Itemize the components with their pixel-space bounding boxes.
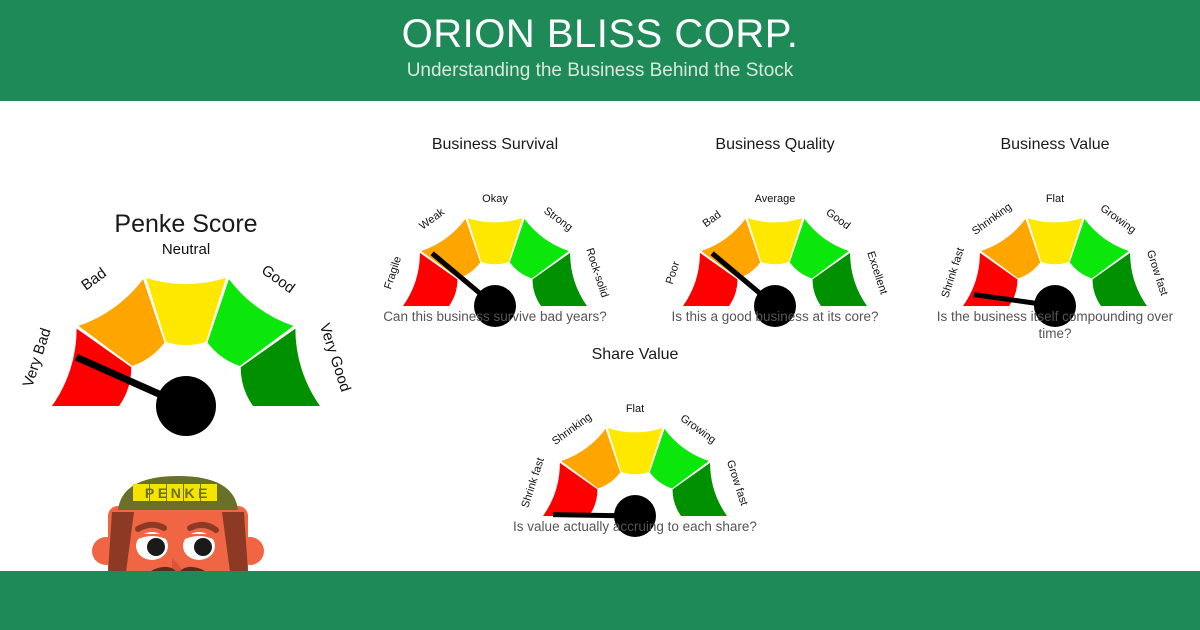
infographic-canvas: ORION BLISS CORP. Understanding the Busi… [0, 0, 1200, 630]
gauge-segment-label: Good [258, 262, 298, 297]
gauge-segment-label: Flat [1046, 193, 1064, 205]
gauge-caption: Is this a good business at its core? [652, 308, 898, 325]
gauge-dial: Shrink fastShrinkingFlatGrowingGrow fast [932, 158, 1178, 320]
gauge-hub [156, 376, 216, 436]
gauge-segment-label: Bad [701, 209, 724, 230]
gauge-segment-label: Excellent [864, 250, 889, 296]
gauge-caption: Is value actually accruing to each share… [512, 518, 758, 535]
gauge-share-value: Share Value Shrink fastShrinkingFlatGrow… [512, 346, 758, 546]
gauge-segment-label: Growing [678, 412, 718, 446]
gauge-segment-label: Weak [417, 206, 447, 232]
mascot-pupil-left [147, 538, 165, 556]
gauge-caption: Can this business survive bad years? [372, 308, 618, 325]
gauge-dial: PoorBadAverageGoodExcellent [652, 158, 898, 320]
gauge-segment-label: Shrink fast [939, 246, 966, 299]
gauge-segment-label: Strong [541, 205, 574, 234]
gauge-business-quality: Business Quality PoorBadAverageGoodExcel… [652, 136, 898, 336]
gauge-segment-label: Bad [78, 265, 110, 294]
gauge-dial: FragileWeakOkayStrongRock-solid [372, 158, 618, 320]
gauge-business-survival: Business Survival FragileWeakOkayStrongR… [372, 136, 618, 336]
gauge-business-value: Business Value Shrink fastShrinkingFlatG… [932, 136, 1178, 336]
gauge-caption: Is the business itself compounding over … [932, 308, 1178, 342]
mascot-cap-label: PENKE [133, 484, 217, 501]
gauge-segment-label: Grow fast [724, 459, 750, 507]
footer-bar [0, 571, 1200, 630]
gauge-title: Share Value [512, 346, 758, 364]
gauge-segment-label: Neutral [162, 241, 210, 258]
header-bar: ORION BLISS CORP. Understanding the Busi… [0, 0, 1200, 101]
mascot-cap-text: PENKE [145, 485, 211, 501]
gauge-segment-label: Average [755, 193, 796, 205]
gauge-segment-label: Shrinking [970, 201, 1014, 238]
gauge-segment-label: Growing [1098, 202, 1138, 236]
gauge-dial: Very BadBadNeutralGoodVery Good [26, 210, 346, 425]
mascot-pupil-right [194, 538, 212, 556]
gauge-title: Penke Score [26, 210, 346, 239]
gauge-title: Business Quality [652, 136, 898, 154]
gauge-title: Business Survival [372, 136, 618, 154]
page-title: ORION BLISS CORP. [0, 12, 1200, 56]
gauge-segment-label: Grow fast [1144, 249, 1170, 297]
gauge-segment-label: Very Bad [20, 326, 55, 389]
gauge-segment-label: Shrink fast [519, 456, 546, 509]
page-subtitle: Understanding the Business Behind the St… [0, 60, 1200, 82]
gauge-segment-label: Rock-solid [583, 247, 610, 300]
gauge-segment-label: Very Good [316, 321, 354, 394]
gauge-penke-score: Penke Score Very BadBadNeutralGoodVery G… [26, 210, 346, 425]
gauge-title: Business Value [932, 136, 1178, 154]
gauge-segment-label: Fragile [382, 255, 404, 291]
gauge-segment-label: Good [824, 207, 853, 233]
gauge-segment-label: Okay [482, 193, 508, 205]
gauge-dial: Shrink fastShrinkingFlatGrowingGrow fast [512, 368, 758, 530]
gauge-segment-label: Flat [626, 403, 644, 415]
gauge-segment-label: Poor [664, 260, 683, 286]
gauge-segment-label: Shrinking [550, 411, 594, 448]
